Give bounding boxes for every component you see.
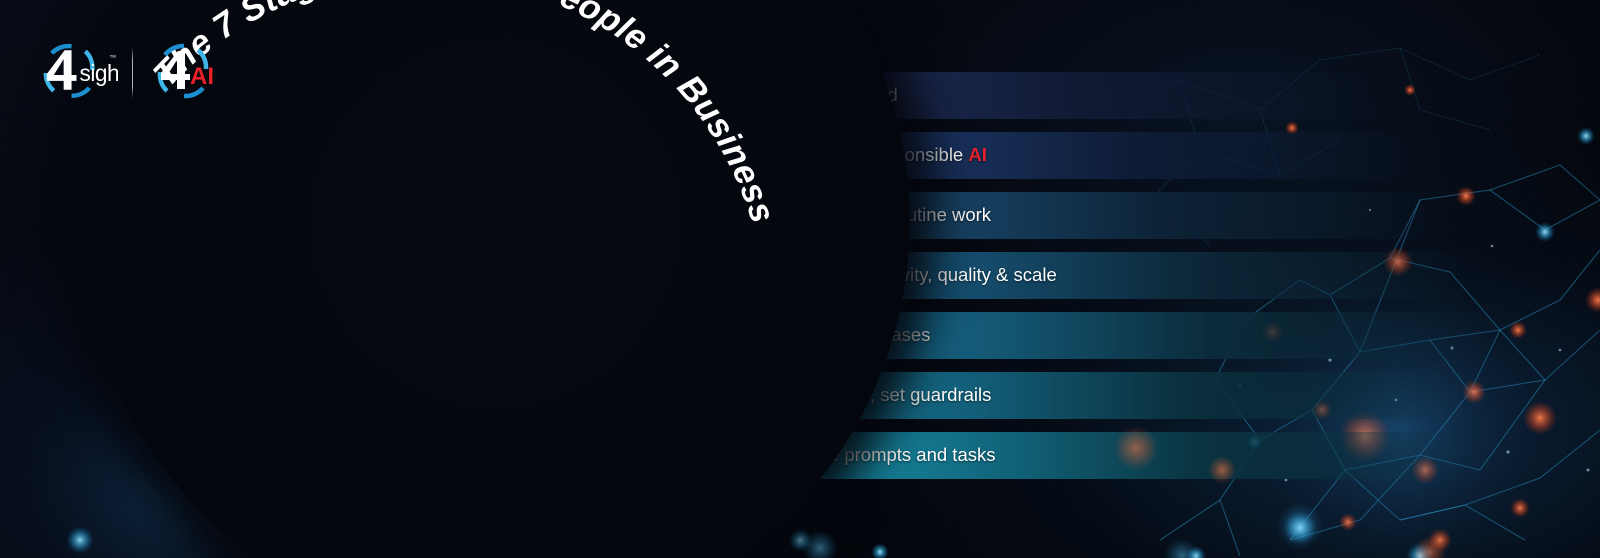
svg-text:The 7 Stages of AI with People: The 7 Stages of AI with People in Busine…	[146, 0, 783, 228]
stage-6-ai-accent: AI	[968, 144, 987, 165]
infographic-banner: 7. Fully integrated: Embedded end-to-end…	[0, 0, 1600, 558]
four-ai-logo[interactable]: AI	[147, 38, 229, 108]
brand-logo-bar: sight ™ AI	[34, 38, 229, 108]
svg-text:sight: sight	[79, 60, 118, 86]
logo-divider	[132, 47, 133, 99]
svg-text:AI: AI	[190, 63, 214, 90]
title-part-b: with People in Business	[445, 0, 782, 228]
foursight-logo[interactable]: sight ™	[34, 38, 118, 108]
trademark-symbol: ™	[109, 53, 116, 62]
